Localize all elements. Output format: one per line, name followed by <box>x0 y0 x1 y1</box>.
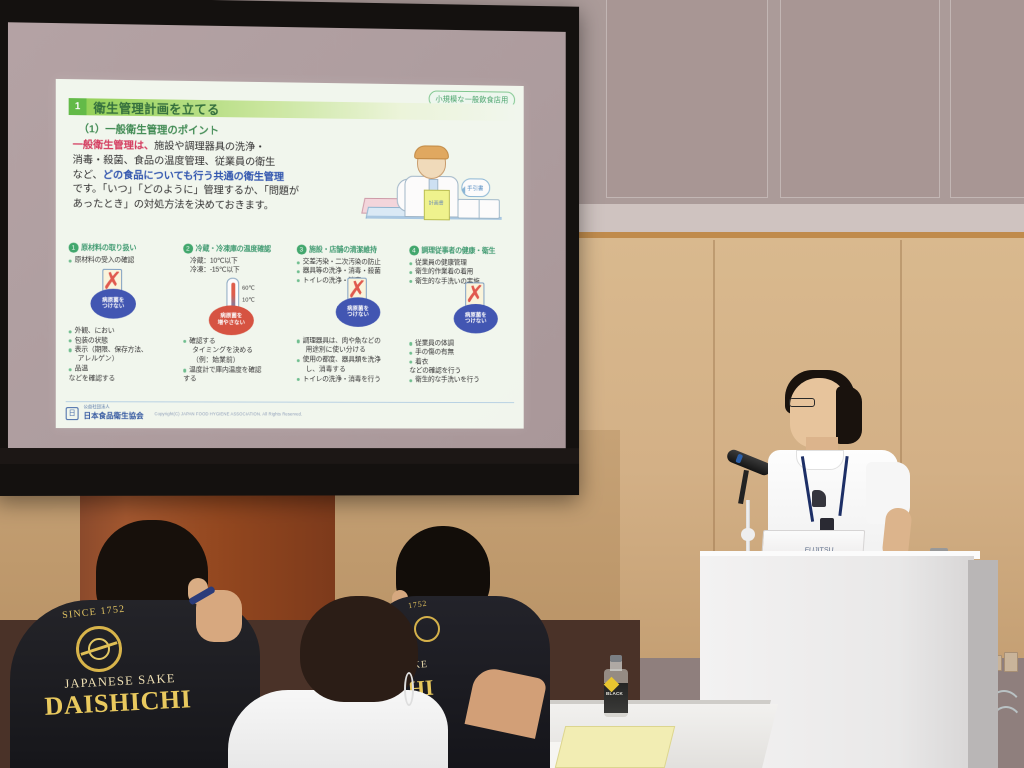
column-title: 調理従事者の健康・衛生 <box>421 246 495 256</box>
presentation-slide: 小規模な一般飲食店用 1 衛生管理計画を立てる （1）一般衛生管理のポイント 一… <box>56 79 524 429</box>
column-worker-health: 4 調理従事者の健康・衛生 従業員の健康管理 衛生的作業着の着用 衛生的な手洗い… <box>409 246 517 386</box>
open-book-icon <box>458 199 500 219</box>
seal-badge: 病原菌を つけない <box>336 297 381 327</box>
column-raw-materials: 1 原材料の取り扱い 原材料の受入の確認 ✗ 病原菌を つけない <box>69 243 180 384</box>
bullet-item: 外観、におい <box>69 327 180 337</box>
slide-section-number: 1 <box>69 98 87 115</box>
slide-footer: 日 公益社団法人 日本食品衛生協会 Copyright(C) JAPAN FOO… <box>66 401 514 421</box>
bullet-continuation: 用途別に使い分ける <box>306 346 406 356</box>
body-line1: 施設や調理器具の洗浄・ <box>154 141 265 153</box>
column-number: 3 <box>297 245 306 254</box>
bullet-item: 品温 <box>69 365 180 375</box>
slide-subtitle: （1）一般衛生管理のポイント <box>79 121 517 142</box>
wall-panel <box>950 0 1024 198</box>
column-title: 施設・店舗の清潔維持 <box>309 245 377 255</box>
seal-line2: つけない <box>102 304 124 311</box>
bullet-item: 手の傷の有無 <box>409 348 517 358</box>
slide-body: 一般衛生管理は、施設や調理器具の洗浄・ 消毒・殺菌、食品の温度管理、従業員の衛生… <box>63 139 517 239</box>
shirt-pocket-item <box>812 490 826 507</box>
seal-badge: 病原菌を つけない <box>454 304 498 334</box>
bullet-item: 従業員の体調 <box>409 339 517 349</box>
column-tail: する <box>183 375 293 385</box>
slide-body-text: 一般衛生管理は、施設や調理器具の洗浄・ 消毒・殺菌、食品の温度管理、従業員の衛生… <box>73 139 359 215</box>
column-fridge-temperature: 2 冷蔵・冷凍庫の温度確認 冷蔵：10℃以下 冷凍：-15℃以下 60℃ 10℃ <box>183 244 293 385</box>
column-title: 冷蔵・冷凍庫の温度確認 <box>196 244 271 255</box>
bullet-continuation: タイミングを決める <box>192 346 293 356</box>
audience-head <box>300 596 418 702</box>
slide-title: 衛生管理計画を立てる <box>93 97 219 118</box>
mic-joint <box>741 528 755 541</box>
seal-graphic: ✗ 病原菌を つけない <box>69 265 180 327</box>
plan-document-label: 計画書 <box>429 200 444 207</box>
column-tail: などの確認を行う <box>409 366 517 376</box>
jacket-crest-icon <box>414 616 440 642</box>
hygiene-columns: 1 原材料の取り扱い 原材料の受入の確認 ✗ 病原菌を つけない <box>69 243 517 385</box>
body-line4: です。「いつ」「どのように」管理するか、「問題が <box>73 184 299 197</box>
wall-outlet-icon <box>1004 652 1018 672</box>
bullet-item: 衛生的な手洗いを行う <box>409 376 517 385</box>
bottle-neck <box>610 661 622 671</box>
column-number: 1 <box>69 243 78 253</box>
speech-bubble: 手引書 <box>461 178 490 197</box>
temp-label-low: 10℃ <box>242 297 255 303</box>
bullet-item: 使用の都度、器具類を洗浄 <box>297 355 406 365</box>
wall-band <box>560 204 1024 234</box>
column-header: 2 冷蔵・冷凍庫の温度確認 <box>183 244 293 255</box>
seal-line2: つけない <box>465 319 487 325</box>
jacket-crest-icon <box>76 626 122 672</box>
seminar-room-scene: 小規模な一般飲食店用 1 衛生管理計画を立てる （1）一般衛生管理のポイント 一… <box>0 0 1024 768</box>
person-hair <box>414 145 449 159</box>
seal-graphic: ✗ 病原菌を つけない <box>409 286 517 340</box>
bullet-item: トイレの洗浄・消毒を行う <box>297 375 406 385</box>
bullet-item: 確認する <box>183 337 293 347</box>
column-facility-cleanliness: 3 施設・店舗の清潔維持 交差汚染・二次汚染の防止 器具等の洗浄・消毒・殺菌 ト… <box>297 245 406 385</box>
bottle-cap <box>610 655 622 662</box>
wood-seam <box>713 240 715 570</box>
column-header: 3 施設・店舗の清潔維持 <box>297 245 406 256</box>
bullet-continuation: し、消毒する <box>306 365 406 375</box>
mic-band <box>735 453 743 463</box>
body-line3-prefix: など、 <box>73 169 103 180</box>
plan-document-icon: 計画書 <box>424 190 450 221</box>
seal-graphic: 60℃ 10℃ 病原菌を 増やさない <box>183 275 293 337</box>
temp-label-high: 60℃ <box>242 285 255 291</box>
column-tail: などを確認する <box>69 374 180 384</box>
column-header: 1 原材料の取り扱い <box>69 243 180 254</box>
bullet-item: 着衣 <box>409 357 517 367</box>
column-title: 原材料の取り扱い <box>81 243 136 253</box>
bullet-item: 調理器具は、肉や魚などの <box>297 336 406 346</box>
body-line5: あったとき」の対処方法を決めておきます。 <box>73 199 274 212</box>
paper-yellow <box>555 726 675 768</box>
body-lead: 一般衛生管理は、 <box>73 140 154 152</box>
seal-line2: 増やさない <box>218 320 245 327</box>
org-name: 日本食品衛生協会 <box>84 410 144 421</box>
column-number: 2 <box>183 244 192 254</box>
bullet-continuation: アレルゲン） <box>78 355 180 365</box>
slide-illustration: 計画書 手引書 <box>361 143 506 239</box>
beverage-bottle: BLACK <box>604 655 628 717</box>
body-line3-bold: どの食品についても行う共通の衛生管理 <box>103 170 284 183</box>
association-logo-icon: 日 <box>66 407 79 420</box>
seal-badge: 病原菌を 増やさない <box>209 305 254 335</box>
bullet-item: 包装の状態 <box>69 336 180 346</box>
wall-panel <box>780 0 940 198</box>
seal-graphic: ✗ 病原菌を つけない <box>297 285 406 337</box>
copyright-text: Copyright(C) JAPAN FOOD HYGIENE ASSOCIAT… <box>154 411 302 416</box>
podium-side <box>968 560 998 768</box>
screen-surface: 小規模な一般飲食店用 1 衛生管理計画を立てる （1）一般衛生管理のポイント 一… <box>8 22 566 454</box>
column-header: 4 調理従事者の健康・衛生 <box>409 246 517 257</box>
seal-line2: つけない <box>347 312 369 318</box>
bullet-item: 表示（期限、保存方法、 <box>69 345 180 355</box>
wall-panel <box>606 0 768 198</box>
projection-screen: 小規模な一般飲食店用 1 衛生管理計画を立てる （1）一般衛生管理のポイント 一… <box>0 0 579 496</box>
mask-strap-icon <box>404 672 414 706</box>
bullet-continuation: （例：始業前） <box>192 356 293 366</box>
body-line2: 消毒・殺菌、食品の温度管理、従業員の衛生 <box>73 155 276 168</box>
column-number: 4 <box>409 246 418 255</box>
manual-label: 手引書 <box>467 184 483 192</box>
bottle-brand-text: BLACK <box>606 691 623 696</box>
seal-badge: 病原菌を つけない <box>90 289 135 319</box>
presenter-hair-back <box>836 386 862 444</box>
glasses-icon <box>789 398 815 407</box>
bullet-item: 温度計で庫内温度を確認 <box>183 366 293 376</box>
screen-roller-bar <box>0 448 579 464</box>
footer-org: 公益社団法人 日本食品衛生協会 <box>84 405 144 421</box>
